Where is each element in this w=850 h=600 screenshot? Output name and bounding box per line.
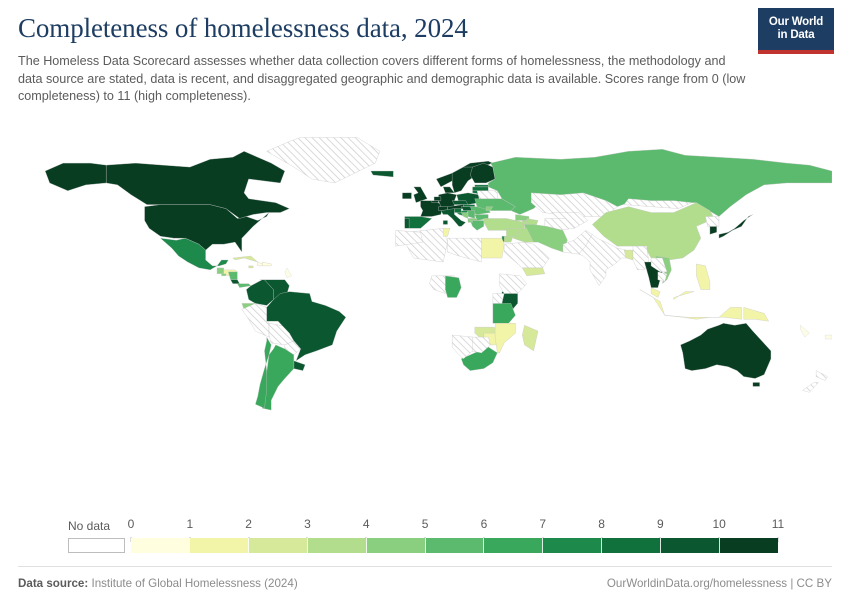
legend-tick-5: 5 (422, 517, 429, 531)
legend-tick-0: 0 (128, 517, 135, 531)
footer-attribution[interactable]: OurWorldinData.org/homelessness | CC BY (607, 577, 832, 590)
map-country[interactable]: Dominican Republic: 0 (262, 262, 271, 266)
map-country[interactable]: Guatemala: 4 (217, 268, 224, 274)
map-territory-outline (285, 268, 292, 278)
map-country[interactable]: Ethiopia: No data (500, 274, 527, 294)
data-source-label: Data source: (18, 577, 88, 590)
legend-tick-2: 2 (245, 517, 252, 531)
legend-no-data-label: No data (68, 519, 110, 533)
map-country[interactable]: New Zealand: No data (816, 371, 827, 381)
map-country[interactable]: Jordan: 3 (504, 237, 513, 243)
owid-logo-line1: Our World (769, 16, 823, 28)
legend-tick-4: 4 (363, 517, 370, 531)
map-country[interactable]: Australia: 11 (753, 383, 760, 387)
map-country[interactable]: Estonia: 8 (475, 185, 489, 187)
map-country[interactable]: Mozambique: 1 (495, 324, 515, 354)
world-map-svg[interactable]: United States: 11United States: 11Canada… (18, 110, 832, 512)
page-title: Completeness of homelessness data, 2024 (18, 14, 718, 44)
chart-subtitle: The Homeless Data Scorecard assesses whe… (18, 53, 753, 107)
map-country[interactable]: Costa Rica: 9 (231, 280, 240, 284)
map-country[interactable]: Ireland: 11 (402, 193, 411, 199)
legend-tick-6: 6 (481, 517, 488, 531)
chart-header: Completeness of homelessness data, 2024 … (18, 14, 832, 106)
map-country[interactable]: Serbia: 5 (468, 211, 475, 219)
map-country[interactable]: Yemen: 2 (522, 268, 545, 276)
legend-tick-11: 11 (772, 517, 784, 531)
legend-bin-5[interactable] (425, 538, 484, 553)
map-country[interactable]: Peru: No data (242, 304, 269, 338)
map-country[interactable]: Philippines: 1 (696, 264, 710, 290)
legend-tick-10: 10 (712, 517, 725, 531)
data-source: Data source: Institute of Global Homeles… (18, 577, 298, 590)
legend-bin-1[interactable] (189, 538, 248, 553)
map-country[interactable]: Greenland: No data (267, 138, 380, 183)
map-country[interactable]: Tunisia: 1 (443, 229, 450, 237)
legend-bin-8[interactable] (601, 538, 660, 553)
map-territory-outline (825, 335, 832, 339)
map-country[interactable]: North Macedonia: 4 (470, 219, 477, 221)
map-country[interactable]: Nicaragua: 5 (228, 272, 237, 280)
legend-tick-9: 9 (657, 517, 664, 531)
chart-root: Completeness of homelessness data, 2024 … (0, 0, 850, 600)
map-country[interactable]: Australia: 11 (680, 324, 770, 379)
map-country[interactable]: Jamaica: 2 (249, 266, 253, 268)
map-country[interactable]: South Korea: 10 (710, 227, 717, 235)
map-countries-layer: United States: 11United States: 11Canada… (45, 138, 832, 411)
legend-bin-3[interactable] (307, 538, 366, 553)
map-country[interactable]: Belarus: No data (477, 191, 497, 199)
map-country[interactable]: Slovakia: 8 (463, 205, 474, 207)
data-source-value: Institute of Global Homelessness (2024) (91, 577, 297, 590)
map-country[interactable]: Latvia: 8 (473, 187, 489, 191)
map-country[interactable]: Czechia: 9 (452, 201, 468, 205)
map-country[interactable]: Slovenia: 8 (454, 209, 461, 213)
map-country[interactable]: Tanzania: 6 (493, 304, 516, 324)
map-country[interactable]: Uruguay: 9 (294, 361, 305, 371)
map-country[interactable]: Panama: 5 (237, 284, 251, 288)
chart-footer: Data source: Institute of Global Homeles… (18, 566, 832, 600)
owid-logo-line2: in Data (778, 29, 815, 41)
map-country[interactable]: Netherlands: 10 (434, 197, 441, 201)
legend-tick-8: 8 (598, 517, 605, 531)
map-country[interactable]: Madagascar: 2 (522, 326, 538, 352)
map-legend: No data 01234567891011 (18, 512, 832, 564)
legend-tick-7: 7 (539, 517, 546, 531)
map-country[interactable]: Iceland: 9 (371, 171, 394, 177)
map-country[interactable]: Japan: 10 (719, 215, 753, 239)
map-country[interactable]: El Salvador: 4 (222, 274, 226, 276)
map-country[interactable]: Papua New Guinea: 1 (744, 308, 769, 322)
map-country[interactable]: Italy: 9 (443, 221, 447, 225)
legend-bin-0[interactable] (131, 538, 189, 553)
map-country[interactable]: Syria: 3 (506, 229, 520, 237)
map-country[interactable]: Saudi Arabia: No data (504, 242, 549, 268)
owid-logo-text: Our World in Data (769, 16, 823, 42)
legend-bin-9[interactable] (660, 538, 719, 553)
owid-logo[interactable]: Our World in Data (758, 8, 834, 54)
legend-bin-2[interactable] (248, 538, 307, 553)
legend-tick-3: 3 (304, 517, 311, 531)
legend-bin-7[interactable] (542, 538, 601, 553)
map-country[interactable]: Malaysia: 1 (674, 292, 694, 300)
map-country[interactable]: Cuba: 2 (233, 256, 258, 262)
map-territory-outline (800, 326, 809, 338)
map-country[interactable]: Libya: No data (448, 239, 482, 263)
legend-bin-10[interactable] (719, 538, 778, 553)
map-country[interactable]: Haiti: 0 (258, 262, 262, 266)
map-country[interactable]: Portugal: 9 (405, 219, 409, 229)
legend-tick-1: 1 (186, 517, 193, 531)
map-country[interactable]: Belgium: 10 (432, 201, 439, 203)
legend-bin-6[interactable] (483, 538, 542, 553)
map-country[interactable]: United States: 11 (45, 163, 106, 191)
legend-no-data-swatch[interactable] (68, 538, 125, 553)
map-country[interactable]: Egypt: 1 (482, 239, 505, 259)
legend-tick-row: 01234567891011 (131, 517, 778, 537)
map-country[interactable]: Cameroon: 6 (445, 276, 461, 298)
legend-color-ramp[interactable] (131, 538, 778, 553)
map-country[interactable]: Malaysia: 1 (651, 288, 660, 298)
map-country[interactable]: Denmark: 11 (443, 187, 454, 193)
world-map[interactable]: United States: 11United States: 11Canada… (18, 110, 832, 512)
map-country[interactable]: North Korea: No data (705, 217, 719, 227)
map-country[interactable]: United Kingdom: 11 (414, 187, 428, 203)
legend-bin-4[interactable] (366, 538, 425, 553)
map-country[interactable]: New Zealand: No data (803, 383, 819, 393)
map-country[interactable]: Bangladesh: 2 (624, 250, 633, 260)
